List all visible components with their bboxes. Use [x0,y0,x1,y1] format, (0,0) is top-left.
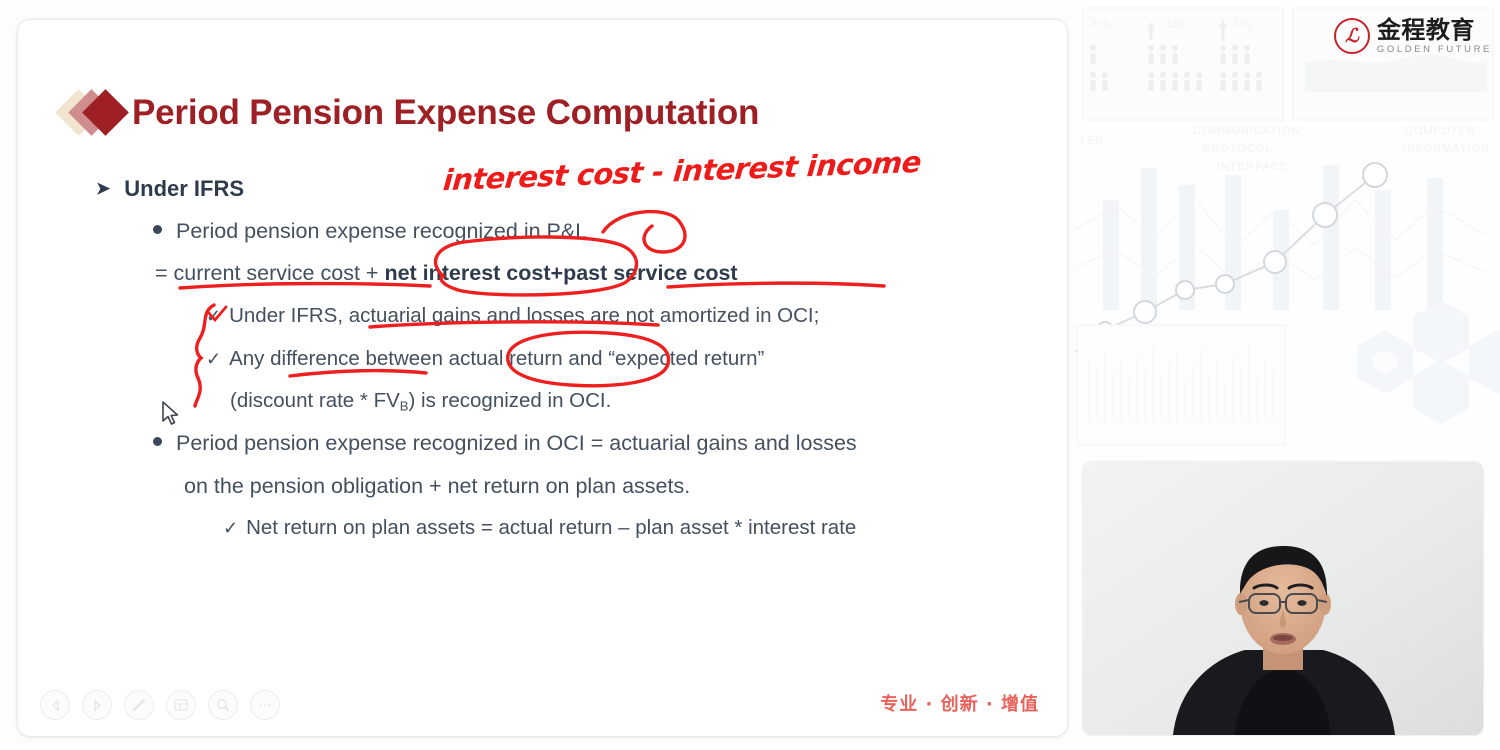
formula-net-interest-cost: net interest cost [384,261,550,285]
more-options-button[interactable] [250,690,280,720]
prev-slide-button[interactable] [40,690,70,720]
svg-text:COMMUNICATION: COMMUNICATION [1193,125,1301,137]
oci-expense-cont: on the pension obligation + net return o… [184,476,690,498]
formula-prefix: = current service cost + [155,261,384,285]
slide-panel[interactable]: Period Pension Expense Computation ➤Unde… [18,20,1067,736]
slide-footer-slogan: 专业 · 创新 · 增值 [880,690,1039,716]
discount-rate-text-b: ) is recognized in OCI. [409,389,612,412]
brand-logo: ℒ 金程教育 GOLDEN FUTURE [1334,18,1492,55]
check-item-net-return: ✓Net return on plan assets = actual retu… [223,518,856,539]
bullet-under-ifrs: ➤Under IFRS [96,178,244,200]
formula-plus: + [551,261,564,285]
svg-text:INFORMATION: INFORMATION [1403,143,1490,155]
svg-text:PROTOCOL: PROTOCOL [1203,143,1273,155]
slide-title-row: Period Pension Expense Computation [60,82,759,144]
video-frame [1083,462,1483,735]
brand-name-cn: 金程教育 [1377,18,1492,42]
svg-text:COMPUTER: COMPUTER [1405,125,1476,137]
background-infographic: -47% 13% 21% [1075,0,1500,460]
discount-rate-text-a: (discount rate * FV [230,389,400,412]
slide-toolbar[interactable] [40,690,280,720]
svg-text:-47%: -47% [1089,19,1110,29]
check-bullet-icon: ✓ [206,350,221,368]
slides-panel-button[interactable] [166,690,196,720]
handwritten-note: interest cost - interest income [442,145,923,197]
lecture-player-window: Period Pension Expense Computation ➤Unde… [0,0,1500,750]
check-bullet-icon: ✓ [223,519,238,537]
zoom-tool-button[interactable] [208,690,238,720]
formula-line: = current service cost + net interest co… [155,263,738,285]
check-item-actuarial: ✓Under IFRS, actuarial gains and losses … [206,306,819,327]
dot-bullet-icon [153,437,162,446]
right-sidebar: -47% 13% 21% [1075,0,1500,750]
formula-past-service-cost: past service cost [563,261,738,285]
bullet-pl-expense-label: Period pension expense recognized in P&L [176,219,587,243]
check-item-difference-label: Any difference between actual return and… [229,347,764,370]
bullet-oci-expense-label: Period pension expense recognized in OCI… [176,431,857,455]
svg-text:21%: 21% [1233,19,1251,29]
fv-subscript: B [400,399,409,414]
mouse-cursor-icon [161,401,181,427]
instructor-video-feed[interactable] [1083,462,1483,735]
arrow-bullet-icon: ➤ [96,180,110,197]
logo-seal-icon: ℒ [1334,18,1370,54]
check-item-net-return-label: Net return on plan assets = actual retur… [246,516,856,539]
diamond-logo-icon [60,89,132,137]
brand-name-en: GOLDEN FUTURE [1377,45,1492,55]
pen-tool-button[interactable] [124,690,154,720]
svg-text:INTERFACE: INTERFACE [1217,161,1288,173]
bullet-oci-expense: Period pension expense recognized in OCI… [153,433,857,455]
bullet-under-ifrs-label: Under IFRS [124,176,244,201]
check-item-difference: ✓Any difference between actual return an… [206,349,764,370]
discount-rate-line: (discount rate * FVB) is recognized in O… [230,391,611,413]
svg-text:13%: 13% [1167,19,1185,29]
next-slide-button[interactable] [82,690,112,720]
check-bullet-icon: ✓ [206,307,221,325]
bullet-pl-expense: Period pension expense recognized in P&L [153,221,587,243]
page-title: Period Pension Expense Computation [132,93,759,133]
svg-text:TER: TER [1079,135,1104,147]
dot-bullet-icon [153,225,162,234]
check-item-actuarial-label: Under IFRS, actuarial gains and losses a… [229,304,819,327]
